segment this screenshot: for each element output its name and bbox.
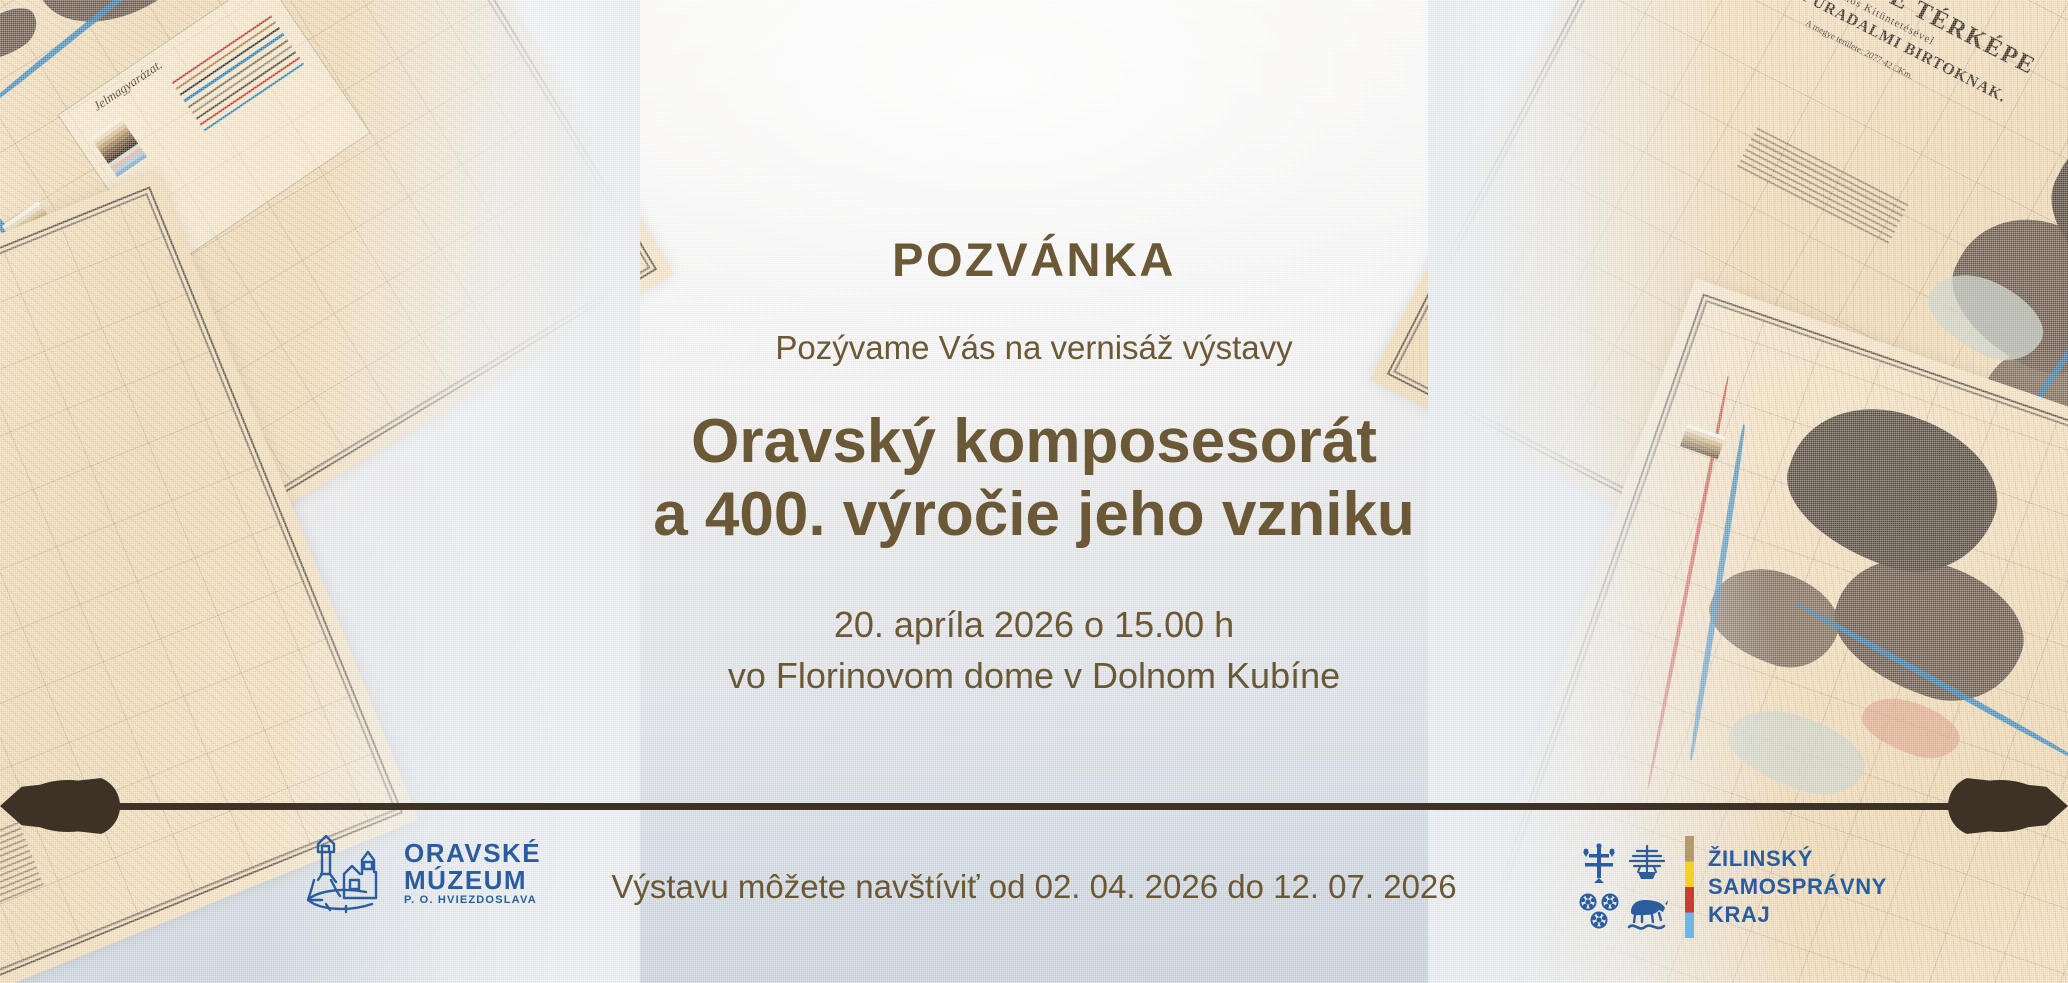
bear-over-wave-icon xyxy=(1623,890,1671,932)
museum-name-line1: ORAVSKÉ xyxy=(404,840,541,867)
event-datetime: 20. apríla 2026 o 15.00 h xyxy=(728,599,1340,650)
zsk-name-line2: SAMOSPRÁVNY xyxy=(1708,873,1887,901)
logo-zilinsky-samospravny-kraj[interactable]: ŽILINSKÝ SAMOSPRÁVNY KRAJ xyxy=(1575,836,1887,938)
crowned-fir-icon xyxy=(1624,842,1670,884)
poster-canvas: Jelmagyarázat. xyxy=(0,0,2068,983)
zsk-symbol-grid xyxy=(1575,839,1671,935)
poster-footer: ORAVSKÉ MÚZEUM P. O. HVIEZDOSLAVA Výstav… xyxy=(0,820,2068,983)
zsk-color-bar xyxy=(1685,836,1694,938)
zsk-name-line3: KRAJ xyxy=(1708,901,1887,929)
exhibition-title-line2: a 400. výročie jeho vzniku xyxy=(653,478,1415,551)
double-cross-icon xyxy=(1577,842,1621,884)
zsk-wordmark: ŽILINSKÝ SAMOSPRÁVNY KRAJ xyxy=(1708,845,1887,929)
exhibition-title-line1: Oravský komposesorát xyxy=(653,405,1415,478)
event-details: 20. apríla 2026 o 15.00 h vo Florinovom … xyxy=(728,599,1340,701)
page-title: POZVÁNKA xyxy=(892,232,1176,287)
event-venue: vo Florinovom dome v Dolnom Kubíne xyxy=(728,650,1340,701)
exhibition-title: Oravský komposesorát a 400. výročie jeho… xyxy=(653,405,1415,551)
zsk-name-line1: ŽILINSKÝ xyxy=(1708,845,1887,873)
three-roses-icon xyxy=(1576,890,1622,932)
invitation-lead: Pozývame Vás na vernisáž výstavy xyxy=(775,329,1292,367)
